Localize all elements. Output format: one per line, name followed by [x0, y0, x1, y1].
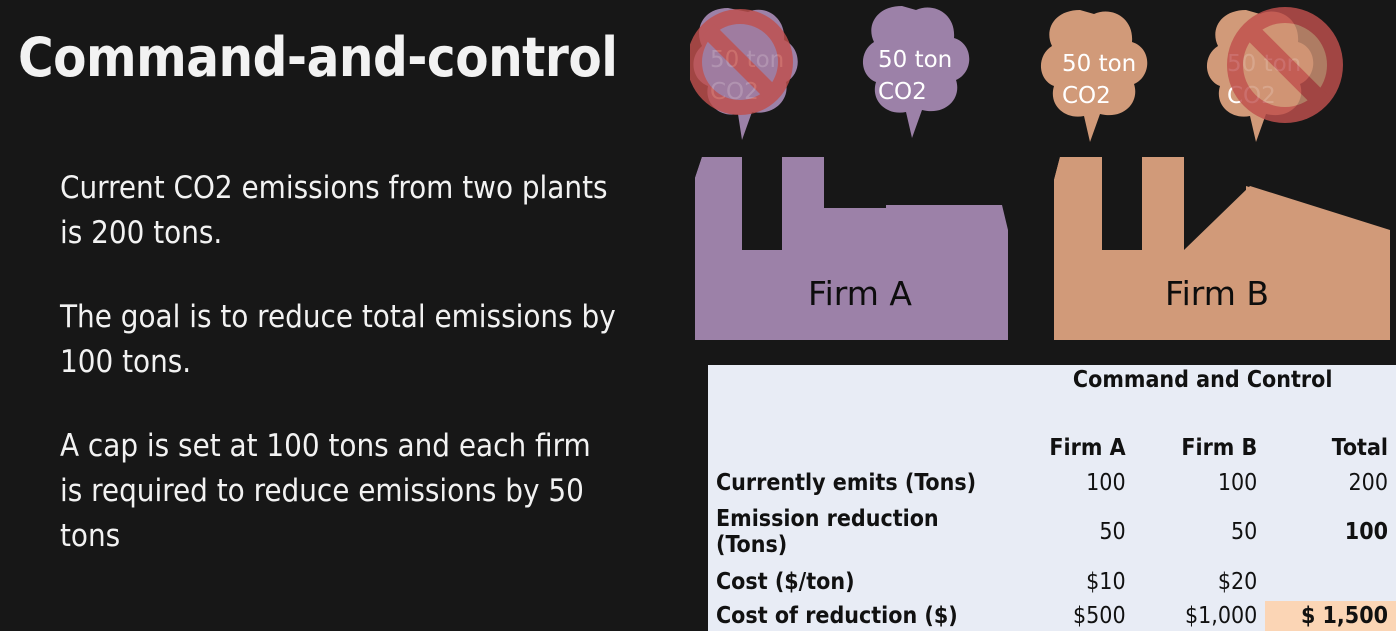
- firm-a-label: Firm A: [808, 274, 912, 313]
- cloud-a-allowed-line2: CO2: [878, 76, 952, 108]
- table-merged-header-row: Command and Control: [708, 365, 1396, 395]
- cell-cost-per-ton-firm-a: $10: [1009, 566, 1133, 596]
- table-row: Cost ($/ton) $10 $20: [708, 566, 1396, 596]
- table-blank-row: [708, 399, 1396, 429]
- command-and-control-table: Command and Control Firm A Firm B Total …: [708, 365, 1396, 631]
- body-paragraph-3: A cap is set at 100 tons and each firm i…: [60, 424, 620, 559]
- blank-cell-2: [1009, 399, 1133, 429]
- cloud-b-blocked-line1: 50 ton: [1227, 48, 1301, 80]
- merged-header-cell: Command and Control: [1009, 365, 1396, 395]
- blank-cell-4: [1265, 399, 1396, 429]
- table-column-header-row: Firm A Firm B Total: [708, 433, 1396, 463]
- cell-emission-reduction-firm-a: 50: [1009, 502, 1133, 563]
- table-row: Currently emits (Tons) 100 100 200: [708, 468, 1396, 498]
- cloud-a-allowed-label: 50 ton CO2: [878, 44, 952, 108]
- body-paragraph-1: Current CO2 emissions from two plants is…: [60, 166, 620, 256]
- cloud-b-allowed-line2: CO2: [1062, 80, 1136, 112]
- factory-diagram: 50 ton CO2 50 ton CO2 50 ton CO2 50 ton …: [690, 0, 1396, 365]
- blank-cell-3: [1134, 399, 1266, 429]
- cloud-b-allowed-label: 50 ton CO2: [1062, 48, 1136, 112]
- cell-cost-per-ton-firm-b: $20: [1134, 566, 1266, 596]
- cell-emission-reduction-firm-b: 50: [1134, 502, 1266, 563]
- cell-cost-of-reduction-total: $ 1,500: [1265, 601, 1396, 631]
- blank-cell-1: [708, 399, 1009, 429]
- firm-b-label: Firm B: [1165, 274, 1269, 313]
- slide-canvas: Command-and-control Current CO2 emission…: [0, 0, 1396, 631]
- table-row: Emission reduction (Tons) 50 50 100: [708, 502, 1396, 563]
- cloud-a-blocked-line2: CO2: [710, 76, 784, 108]
- cell-cost-of-reduction-firm-b: $1,000: [1134, 601, 1266, 631]
- column-header-total: Total: [1265, 433, 1396, 463]
- cell-cost-per-ton-total: [1265, 566, 1396, 596]
- body-paragraph-2: The goal is to reduce total emissions by…: [60, 295, 620, 385]
- cell-currently-emits-firm-b: 100: [1134, 468, 1266, 498]
- cloud-b-blocked-label: 50 ton CO2: [1227, 48, 1301, 112]
- column-header-firm-a: Firm A: [1009, 433, 1133, 463]
- cloud-a-blocked-label: 50 ton CO2: [710, 44, 784, 108]
- cell-emission-reduction-total: 100: [1265, 502, 1396, 563]
- merged-header-spacer: [708, 365, 1009, 395]
- cloud-a-allowed-line1: 50 ton: [878, 44, 952, 76]
- row-label-cost-per-ton: Cost ($/ton): [708, 566, 1009, 596]
- cloud-b-allowed-line1: 50 ton: [1062, 48, 1136, 80]
- column-header-blank: [708, 433, 1009, 463]
- column-header-firm-b: Firm B: [1134, 433, 1266, 463]
- table-row: Cost of reduction ($) $500 $1,000 $ 1,50…: [708, 601, 1396, 631]
- row-label-cost-of-reduction: Cost of reduction ($): [708, 601, 1009, 631]
- cloud-a-blocked-line1: 50 ton: [710, 44, 784, 76]
- cell-currently-emits-firm-a: 100: [1009, 468, 1133, 498]
- page-title: Command-and-control: [18, 26, 617, 89]
- row-label-currently-emits: Currently emits (Tons): [708, 468, 1009, 498]
- cloud-b-blocked-line2: CO2: [1227, 80, 1301, 112]
- row-label-emission-reduction: Emission reduction (Tons): [708, 502, 1009, 563]
- cell-cost-of-reduction-firm-a: $500: [1009, 601, 1133, 631]
- cell-currently-emits-total: 200: [1265, 468, 1396, 498]
- body-text-block: Current CO2 emissions from two plants is…: [60, 166, 620, 559]
